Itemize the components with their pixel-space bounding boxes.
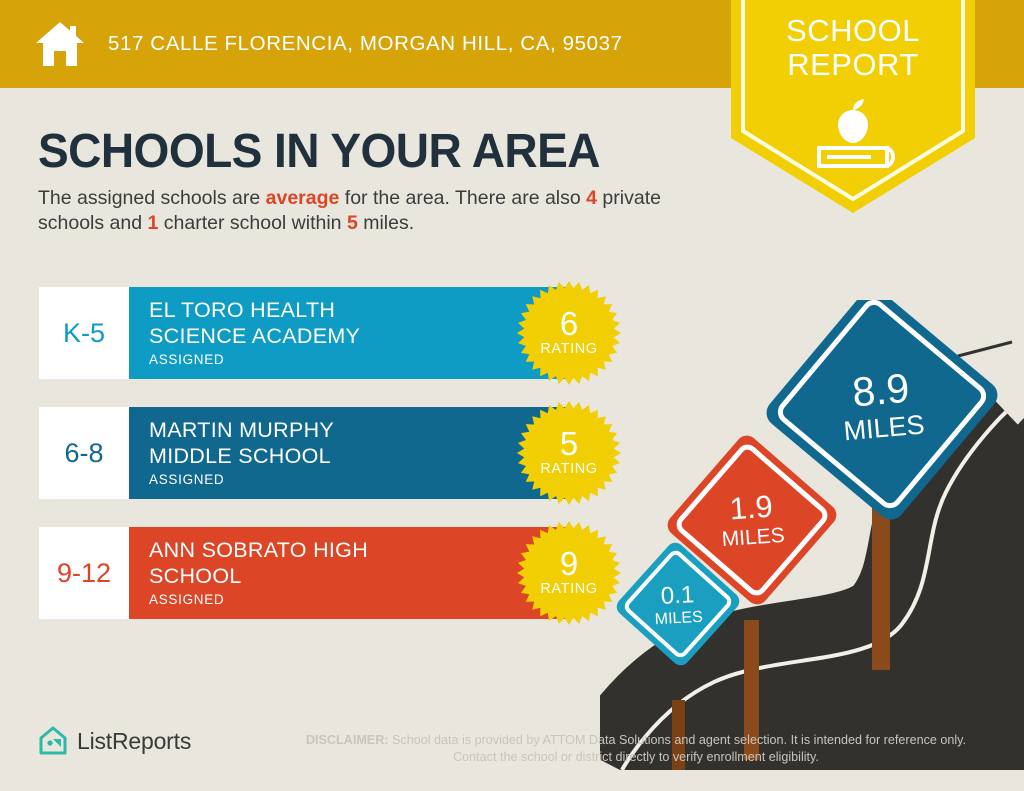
school-name-line-2: SCIENCE ACADEMY	[149, 324, 569, 350]
disclaimer-body: School data is provided by ATTOM Data So…	[389, 733, 967, 764]
rating-label: RATING	[540, 581, 597, 597]
badge-title: SCHOOL REPORT	[731, 14, 975, 82]
home-icon	[34, 18, 86, 70]
listreports-house-icon	[38, 725, 68, 757]
school-row[interactable]: 6-8 MARTIN MURPHY MIDDLE SCHOOL ASSIGNED…	[39, 407, 569, 499]
grade-range-box: 9-12	[39, 527, 129, 619]
school-bar: ANN SOBRATO HIGH SCHOOL ASSIGNED	[129, 527, 569, 619]
listreports-wordmark: ListReports	[77, 728, 191, 755]
distance-value-small: 0.1	[660, 581, 695, 610]
school-report-badge: SCHOOL REPORT	[731, 0, 975, 213]
distance-value-large: 8.9	[850, 365, 911, 416]
grade-range-box: 6-8	[39, 407, 129, 499]
subtitle-part-2: for the area. There are also	[339, 187, 586, 209]
distance-unit-medium: MILES	[721, 524, 785, 551]
school-name-line-1: ANN SOBRATO HIGH	[149, 538, 569, 564]
rating-value: 6	[560, 308, 578, 340]
school-row[interactable]: 9-12 ANN SOBRATO HIGH SCHOOL ASSIGNED 9 …	[39, 527, 569, 619]
infographic-page: 517 CALLE FLORENCIA, MORGAN HILL, CA, 95…	[0, 0, 1024, 791]
subtitle-part-1: The assigned schools are	[38, 187, 266, 209]
property-address: 517 CALLE FLORENCIA, MORGAN HILL, CA, 95…	[108, 32, 623, 56]
subtitle-highlight-charter-count: 1	[148, 212, 159, 234]
grade-range-label: 6-8	[64, 438, 103, 469]
page-title: SCHOOLS IN YOUR AREA	[38, 124, 600, 179]
listreports-logo[interactable]: ListReports	[38, 725, 191, 757]
school-status-label: ASSIGNED	[149, 472, 569, 487]
sign-antenna	[958, 342, 1012, 356]
school-name-line-2: MIDDLE SCHOOL	[149, 444, 569, 470]
distance-road-illustration: 8.9 MILES 1.9 MILES 0.1 MILES	[600, 300, 1024, 770]
rating-label: RATING	[540, 461, 597, 477]
badge-line-2: REPORT	[731, 48, 975, 82]
school-bar: MARTIN MURPHY MIDDLE SCHOOL ASSIGNED	[129, 407, 569, 499]
rating-value: 5	[560, 428, 578, 460]
disclaimer-text: DISCLAIMER: School data is provided by A…	[296, 732, 976, 766]
distance-unit-small: MILES	[654, 609, 703, 628]
school-name-line-1: EL TORO HEALTH	[149, 298, 569, 324]
grade-range-label: 9-12	[57, 558, 111, 589]
school-name-line-2: SCHOOL	[149, 564, 569, 590]
subtitle-part-5: miles.	[358, 212, 414, 234]
schools-list: K-5 EL TORO HEALTH SCIENCE ACADEMY ASSIG…	[39, 287, 569, 647]
badge-line-1: SCHOOL	[731, 14, 975, 48]
subtitle-highlight-radius: 5	[347, 212, 358, 234]
rating-value: 9	[560, 548, 578, 580]
school-status-label: ASSIGNED	[149, 352, 569, 367]
school-bar: EL TORO HEALTH SCIENCE ACADEMY ASSIGNED	[129, 287, 569, 379]
school-row[interactable]: K-5 EL TORO HEALTH SCIENCE ACADEMY ASSIG…	[39, 287, 569, 379]
distance-value-medium: 1.9	[728, 489, 773, 527]
grade-range-box: K-5	[39, 287, 129, 379]
rating-label: RATING	[540, 341, 597, 357]
subtitle-highlight-private-count: 4	[586, 187, 597, 209]
subtitle-highlight-average: average	[266, 187, 340, 209]
school-name-line-1: MARTIN MURPHY	[149, 418, 569, 444]
disclaimer-label: DISCLAIMER:	[306, 733, 389, 747]
school-status-label: ASSIGNED	[149, 592, 569, 607]
page-subtitle: The assigned schools are average for the…	[38, 186, 718, 236]
subtitle-part-4: charter school within	[158, 212, 347, 234]
grade-range-label: K-5	[63, 318, 105, 349]
